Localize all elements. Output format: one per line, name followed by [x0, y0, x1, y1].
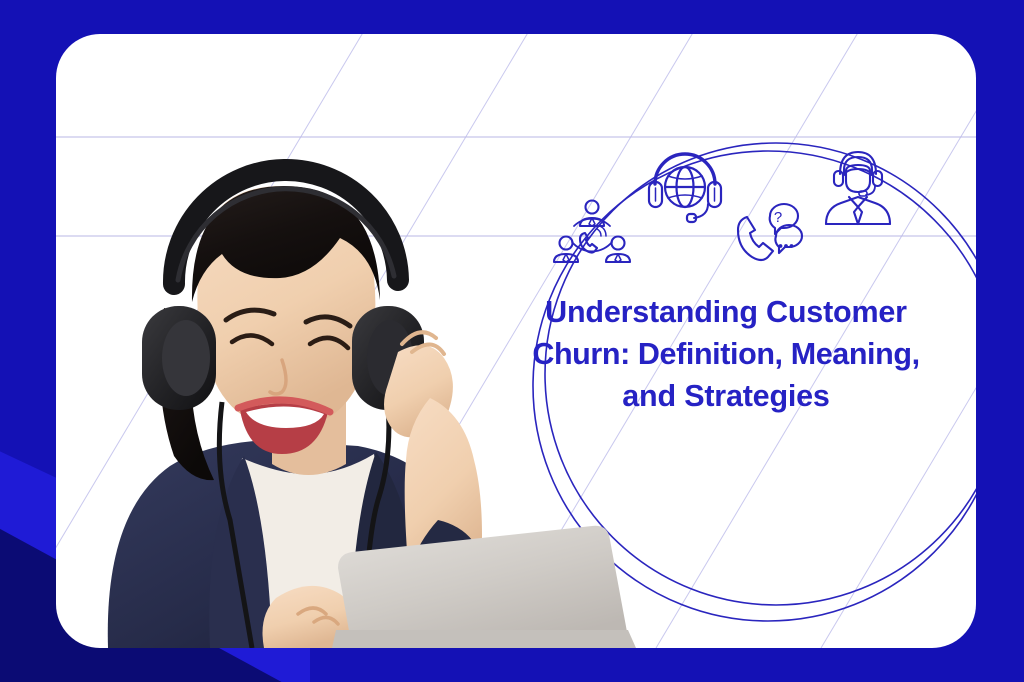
- laptop-base: [332, 630, 636, 648]
- phone-chat-bubbles-icon: ?: [734, 200, 806, 275]
- hero-banner: ?: [0, 0, 1024, 682]
- support-agent-icon: [818, 144, 898, 233]
- content-card: ?: [56, 34, 976, 648]
- smiling-call-center-agent-photo: [56, 128, 736, 648]
- svg-text:?: ?: [774, 209, 782, 226]
